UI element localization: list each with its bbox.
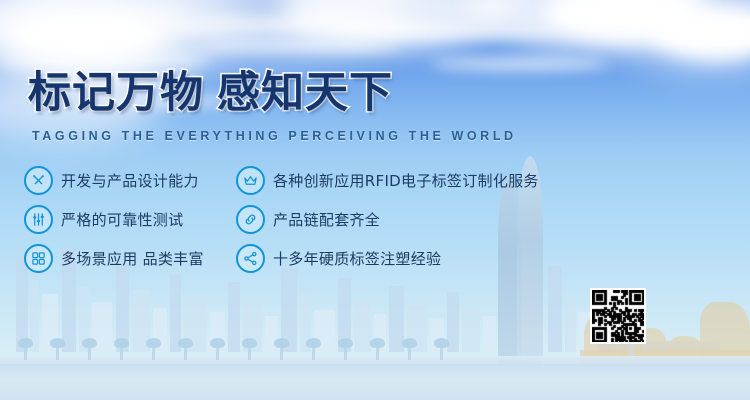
feature-list: 开发与产品设计能力 各种创新应用RFID电子标签订制化服务 <box>24 166 584 283</box>
waterfront <box>0 364 750 400</box>
share-icon <box>236 244 265 273</box>
feature-item: 开发与产品设计能力 <box>24 166 236 195</box>
crown-icon <box>236 166 265 195</box>
feature-row: 严格的可靠性测试 产品链配套齐全 <box>24 205 584 244</box>
feature-label: 严格的可靠性测试 <box>61 209 183 230</box>
promo-banner: 标记万物 感知天下 TAGGING THE EVERYTHING PERCEIV… <box>0 0 750 400</box>
feature-label: 开发与产品设计能力 <box>61 170 199 191</box>
feature-label: 各种创新应用RFID电子标签订制化服务 <box>273 170 539 191</box>
page-title: 标记万物 感知天下 <box>28 72 393 115</box>
feature-item: 十多年硬质标签注塑经验 <box>236 244 584 273</box>
feature-label: 十多年硬质标签注塑经验 <box>273 248 441 269</box>
qr-code[interactable] <box>590 288 646 344</box>
feature-item: 各种创新应用RFID电子标签订制化服务 <box>236 166 584 195</box>
feature-item: 严格的可靠性测试 <box>24 205 236 234</box>
feature-label: 多场景应用 品类丰富 <box>61 248 204 269</box>
feature-row: 开发与产品设计能力 各种创新应用RFID电子标签订制化服务 <box>24 166 584 205</box>
grid-icon <box>24 244 53 273</box>
feature-item: 产品链配套齐全 <box>236 205 584 234</box>
sliders-icon <box>24 205 53 234</box>
feature-label: 产品链配套齐全 <box>273 209 380 230</box>
feature-row: 多场景应用 品类丰富 十多年硬质标签注塑经验 <box>24 244 584 283</box>
tools-icon <box>24 166 53 195</box>
feature-item: 多场景应用 品类丰富 <box>24 244 236 273</box>
page-subtitle: TAGGING THE EVERYTHING PERCEIVING THE WO… <box>32 129 517 143</box>
link-icon <box>236 205 265 234</box>
